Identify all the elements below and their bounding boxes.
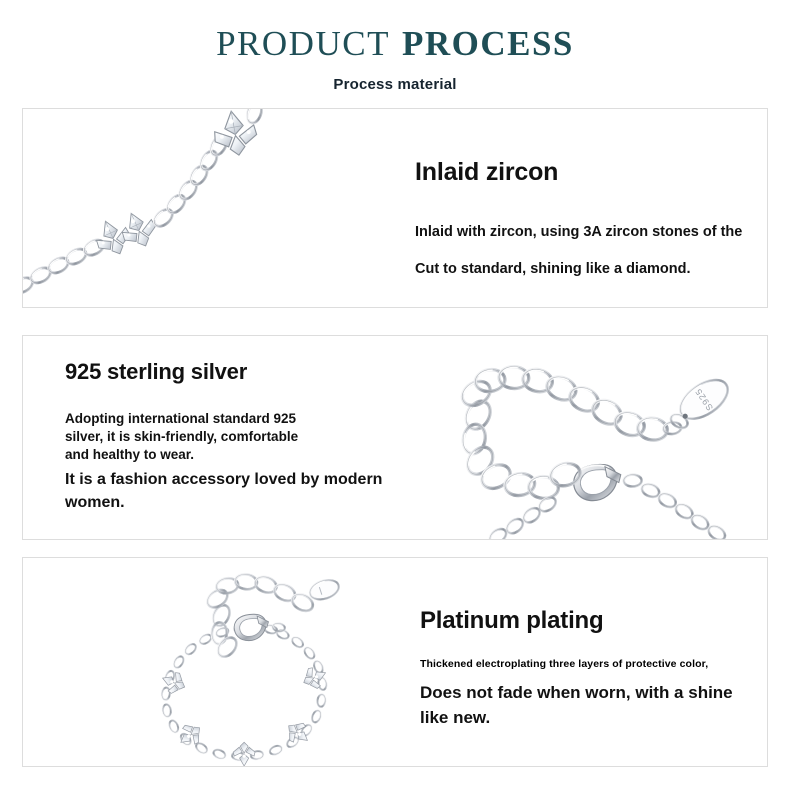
panel-heading: Inlaid zircon — [415, 159, 558, 187]
body-line: Inlaid with zircon, using 3A zircon ston… — [415, 214, 742, 251]
body-line: Adopting international standard 925 — [65, 410, 298, 428]
page-subtitle: Process material — [0, 76, 790, 93]
panel-body-large: It is a fashion accessory loved by moder… — [65, 468, 382, 514]
body-line: Cut to standard, shining like a diamond. — [415, 251, 742, 288]
panel-heading: 925 sterling silver — [65, 360, 247, 384]
page-title-light: PRODUCT — [216, 24, 390, 63]
panel-body: Does not fade when worn, with a shine li… — [420, 680, 733, 730]
zircon-closeup-image — [23, 109, 373, 307]
feature-panel-inlaid-zircon: Inlaid zircon Inlaid with zircon, using … — [22, 108, 768, 308]
panel-body-small: Adopting international standard 925 silv… — [65, 410, 298, 464]
body-line: like new. — [420, 705, 733, 730]
page-title-bold: PROCESS — [402, 24, 574, 63]
body-line: Does not fade when worn, with a shine — [420, 680, 733, 705]
panel-heading: Platinum plating — [420, 608, 603, 634]
panel-text-platinum-plating: Platinum plating Thickened electroplatin… — [396, 558, 761, 766]
page-header: PRODUCTPROCESS Process material — [0, 0, 790, 93]
page-title: PRODUCTPROCESS — [0, 26, 790, 61]
panel-text-sterling-silver: 925 sterling silver Adopting internation… — [41, 336, 391, 539]
body-line: and healthy to wear. — [65, 446, 298, 464]
panel-caption: Thickened electroplating three layers of… — [420, 658, 708, 670]
panel-text-inlaid-zircon: Inlaid zircon Inlaid with zircon, using … — [391, 109, 761, 307]
body-line: It is a fashion accessory loved by moder… — [65, 468, 382, 491]
clasp-and-tag-image: S925 — [437, 336, 767, 539]
body-line: silver, it is skin-friendly, comfortable — [65, 428, 298, 446]
full-bracelet-image — [93, 558, 423, 766]
feature-panel-platinum-plating: Platinum plating Thickened electroplatin… — [22, 557, 768, 767]
body-line: women. — [65, 491, 382, 514]
feature-panel-sterling-silver: S925 925 sterling silver Adopt — [22, 335, 768, 540]
panel-body: Inlaid with zircon, using 3A zircon ston… — [415, 214, 742, 288]
